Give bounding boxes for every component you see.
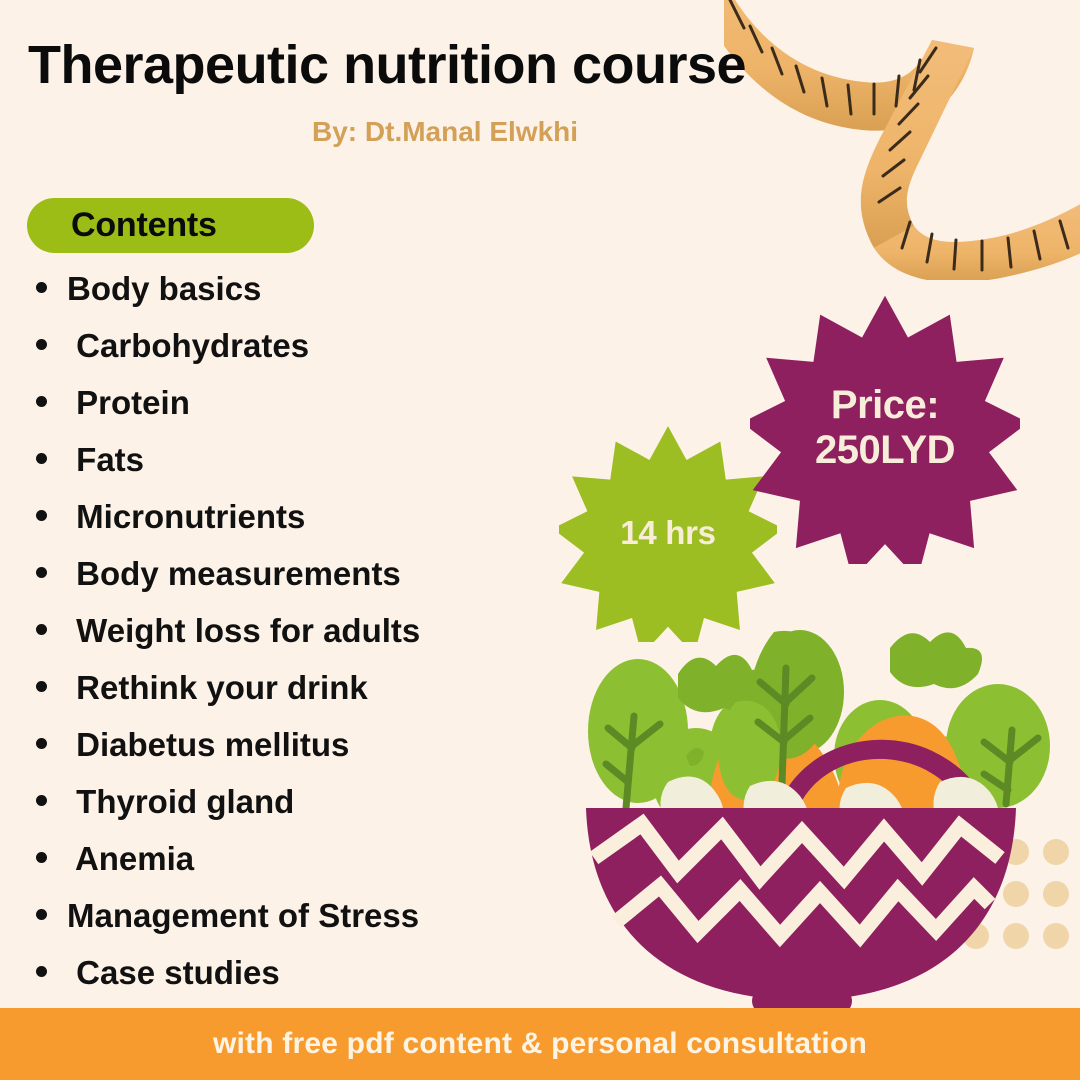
bullet-icon xyxy=(36,339,47,350)
contents-list: Body basics Carbohydrates Protein Fats M… xyxy=(36,272,576,1013)
list-item-label: Weight loss for adults xyxy=(67,614,420,647)
bullet-icon xyxy=(36,909,47,920)
star-shape xyxy=(750,296,1020,564)
list-item: Management of Stress xyxy=(36,899,576,956)
list-item-label: Management of Stress xyxy=(67,899,419,932)
list-item-label: Case studies xyxy=(67,956,280,989)
bullet-icon xyxy=(36,624,47,635)
list-item: Thyroid gland xyxy=(36,785,576,842)
tape-segment-lower xyxy=(874,202,1080,280)
list-item-label: Carbohydrates xyxy=(67,329,309,362)
contents-pill-label: Contents xyxy=(71,206,217,245)
list-item: Body measurements xyxy=(36,557,576,614)
tape-segment-middle xyxy=(861,40,974,248)
list-item: Carbohydrates xyxy=(36,329,576,386)
list-item-label: Thyroid gland xyxy=(67,785,294,818)
measuring-tape-icon xyxy=(724,0,1080,280)
bullet-icon xyxy=(36,282,47,293)
list-item: Micronutrients xyxy=(36,500,576,557)
price-badge: Price: 250LYD xyxy=(750,292,1020,564)
contents-pill: Contents xyxy=(27,198,314,253)
tape-tick-marks xyxy=(730,0,1068,270)
list-item: Fats xyxy=(36,443,576,500)
list-item-label: Diabetus mellitus xyxy=(67,728,349,761)
vegetable-bowl-illustration xyxy=(560,596,1080,1016)
bullet-icon xyxy=(36,567,47,578)
list-item-label: Micronutrients xyxy=(67,500,305,533)
list-item-label: Body measurements xyxy=(67,557,401,590)
list-item-label: Fats xyxy=(67,443,144,476)
list-item-label: Body basics xyxy=(67,272,261,305)
bullet-icon xyxy=(36,510,47,521)
bullet-icon xyxy=(36,453,47,464)
bullet-icon xyxy=(36,396,47,407)
author-byline: By: Dt.Manal Elwkhi xyxy=(312,116,578,148)
vegetable-bowl-icon xyxy=(560,596,1080,1016)
list-item: Weight loss for adults xyxy=(36,614,576,671)
list-item: Anemia xyxy=(36,842,576,899)
bullet-icon xyxy=(36,681,47,692)
banner-text: with free pdf content & personal consult… xyxy=(213,1027,867,1061)
list-item: Case studies xyxy=(36,956,576,1013)
page-title: Therapeutic nutrition course xyxy=(28,34,746,96)
measuring-tape-decoration xyxy=(724,0,1080,280)
list-item-label: Protein xyxy=(67,386,190,419)
bottom-banner: with free pdf content & personal consult… xyxy=(0,1008,1080,1080)
list-item: Rethink your drink xyxy=(36,671,576,728)
starburst-icon xyxy=(750,292,1020,564)
bullet-icon xyxy=(36,852,47,863)
poster-canvas: Therapeutic nutrition course By: Dt.Mana… xyxy=(0,0,1080,1080)
tape-segment-upper xyxy=(724,0,974,131)
list-item: Body basics xyxy=(36,272,576,329)
bullet-icon xyxy=(36,795,47,806)
list-item: Protein xyxy=(36,386,576,443)
list-item-label: Rethink your drink xyxy=(67,671,368,704)
bullet-icon xyxy=(36,738,47,749)
bullet-icon xyxy=(36,966,47,977)
list-item: Diabetus mellitus xyxy=(36,728,576,785)
list-item-label: Anemia xyxy=(67,842,194,875)
